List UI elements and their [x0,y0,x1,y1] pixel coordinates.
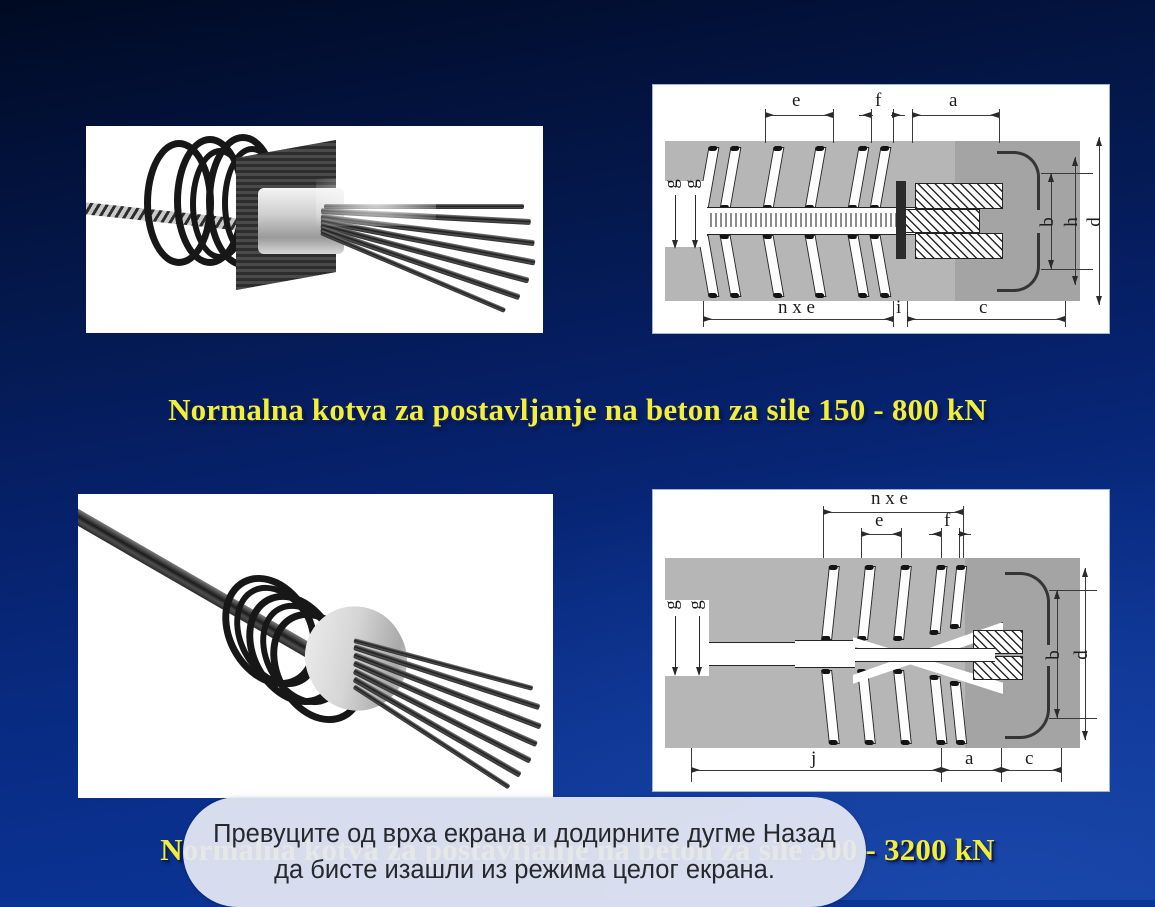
dim-label-e-top: e [792,90,800,112]
dim-label-g1-left-br: g [661,600,683,610]
dim-label-g2-left-br: g [685,600,707,610]
dim-label-d-right-br: d [1071,650,1093,660]
presentation-slide: e f a g g n x e i c [0,0,1155,900]
anchor-photo-bottom-left [78,494,553,798]
dim-label-nxe-top: n x e [871,489,908,510]
dim-label-d-right: d [1084,217,1106,227]
dim-label-b-right: b [1037,217,1059,227]
anchorage-diagram-top-right: e f a g g n x e i c [652,84,1110,334]
dim-label-h-right: h [1061,217,1083,227]
dim-label-i-bottom: i [896,297,901,319]
anchor-photo-top-left [86,126,543,333]
dim-label-j-bottom: j [811,748,816,770]
dim-label-a-bottom: a [965,748,973,770]
dim-label-f-top: f [875,90,881,112]
dim-label-c-bottom-br: c [1025,748,1033,770]
dim-label-f-top-br: f [944,510,950,532]
fullscreen-toast-message: Превуците од врха екрана и додирните дуг… [183,816,866,888]
fullscreen-toast: Превуците од врха екрана и додирните дуг… [183,797,866,907]
dim-label-g2-left: g [681,179,703,189]
dim-label-c-bottom: c [979,297,987,319]
dim-label-g1-left: g [661,179,683,189]
dim-label-nxe-bottom: n x e [778,297,815,319]
dim-label-e-top-br: e [875,510,883,532]
dim-label-b-right-br: b [1043,650,1065,660]
anchorage-diagram-bottom-right: n x e e f g g j a [652,489,1110,792]
dim-label-a-top: a [949,90,957,112]
caption-top: Normalna kotva za postavljanje na beton … [0,392,1155,428]
